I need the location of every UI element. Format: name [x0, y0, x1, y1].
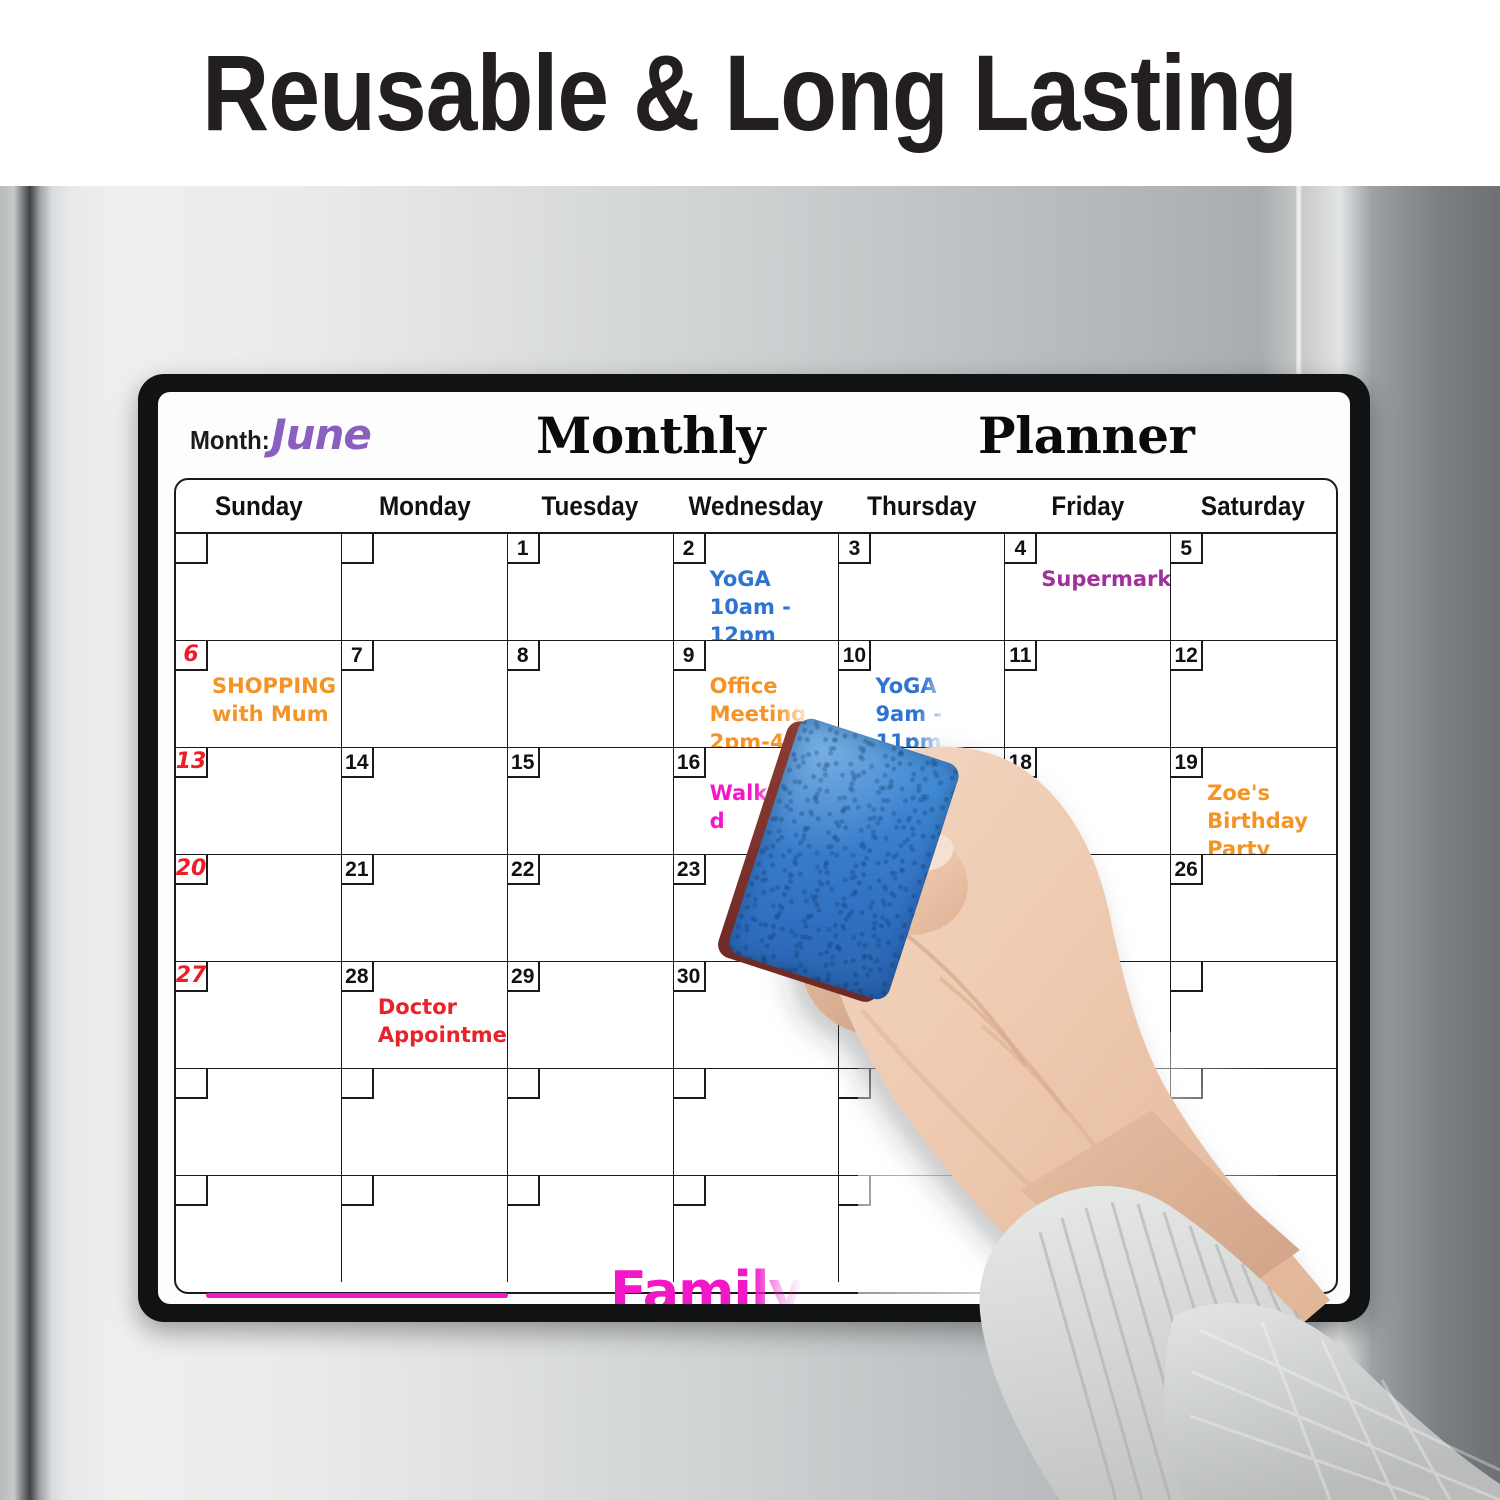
calendar-day-cell[interactable]	[1171, 1176, 1336, 1282]
date-number-box: 15	[508, 748, 540, 778]
day-of-week-header-row: Sunday Monday Tuesday Wednesday Thursday…	[176, 480, 1336, 534]
dow-saturday: Saturday	[1179, 480, 1328, 532]
date-number-box	[674, 1176, 706, 1206]
date-number-box: 29	[508, 962, 540, 992]
day-note-handwritten[interactable]: Zoe's Birthday Party	[1207, 780, 1330, 854]
day-note-handwritten[interactable]: Walk d	[710, 780, 833, 836]
calendar-week-rows: 12YoGA 10am - 12pm34Supermarket56SHOPPIN…	[176, 534, 1336, 1282]
date-number-box	[342, 1069, 374, 1099]
calendar-day-cell[interactable]	[342, 1069, 508, 1175]
date-number-box	[176, 1069, 208, 1099]
banner: Reusable & Long Lasting	[0, 0, 1500, 186]
date-number-box	[839, 1069, 871, 1099]
calendar-day-cell[interactable]: 13	[176, 748, 342, 854]
day-note-handwritten[interactable]: Office Meeting 2pm-4pm	[710, 673, 833, 747]
calendar-week-row: 12YoGA 10am - 12pm34Supermarket5	[176, 534, 1336, 641]
calendar-grid: Sunday Monday Tuesday Wednesday Thursday…	[174, 478, 1338, 1294]
calendar-week-row: 6SHOPPING with Mum789Office Meeting 2pm-…	[176, 641, 1336, 748]
date-number-box: 22	[508, 855, 540, 885]
calendar-day-cell[interactable]: 29	[508, 962, 674, 1068]
date-number-box	[1005, 1069, 1037, 1099]
date-number-box: 30	[674, 962, 706, 992]
calendar-day-cell[interactable]: 6SHOPPING with Mum	[176, 641, 342, 747]
date-number-box: 21	[342, 855, 374, 885]
date-number-box	[839, 962, 871, 992]
calendar-day-cell[interactable]: 24	[839, 855, 1005, 961]
date-number-box: 11	[1005, 641, 1037, 671]
calendar-week-row: 20212223242526	[176, 855, 1336, 962]
calendar-day-cell[interactable]: 27	[176, 962, 342, 1068]
date-number-box: 20	[176, 855, 208, 885]
planner-title-monthly: Monthly	[536, 406, 765, 465]
date-number-box: 7	[342, 641, 374, 671]
calendar-day-cell[interactable]: 20	[176, 855, 342, 961]
screenshot-root: Reusable & Long Lasting Month: June Mont…	[0, 0, 1500, 1500]
calendar-day-cell[interactable]: 23	[674, 855, 840, 961]
calendar-day-cell[interactable]	[342, 534, 508, 640]
date-number-box: 8	[508, 641, 540, 671]
calendar-day-cell[interactable]: 25	[1005, 855, 1171, 961]
banner-title: Reusable & Long Lasting	[203, 39, 1298, 147]
calendar-day-cell[interactable]	[508, 1069, 674, 1175]
month-label: Month:	[190, 425, 270, 456]
magnetic-whiteboard-planner[interactable]: Month: June Monthly Planner Sunday Monda…	[138, 374, 1370, 1322]
calendar-day-cell[interactable]: 14	[342, 748, 508, 854]
calendar-week-row: 13141516Walk d171819Zoe's Birthday Party	[176, 748, 1336, 855]
calendar-day-cell[interactable]: 18	[1005, 748, 1171, 854]
date-number-box: 1	[508, 534, 540, 564]
date-number-box: 13	[176, 748, 208, 778]
date-number-box: 23	[674, 855, 706, 885]
date-number-box	[176, 1176, 208, 1206]
whiteboard-surface: Month: June Monthly Planner Sunday Monda…	[158, 392, 1350, 1304]
calendar-day-cell[interactable]: 30	[674, 962, 840, 1068]
calendar-day-cell[interactable]: 11	[1005, 641, 1171, 747]
calendar-day-cell[interactable]	[1171, 962, 1336, 1068]
calendar-day-cell[interactable]: 16Walk d	[674, 748, 840, 854]
calendar-day-cell[interactable]	[176, 1176, 342, 1282]
day-note-handwritten[interactable]: YoGA 10am - 12pm	[710, 566, 833, 640]
calendar-day-cell[interactable]: 7	[342, 641, 508, 747]
calendar-day-cell[interactable]	[1005, 962, 1171, 1068]
calendar-day-cell[interactable]	[176, 1069, 342, 1175]
date-number-box	[1005, 1176, 1037, 1206]
calendar-day-cell[interactable]: 2YoGA 10am - 12pm	[674, 534, 840, 640]
date-number-box: 4	[1005, 534, 1037, 564]
calendar-day-cell[interactable]: 21	[342, 855, 508, 961]
calendar-day-cell[interactable]: 19Zoe's Birthday Party	[1171, 748, 1336, 854]
calendar-day-cell[interactable]: 1	[508, 534, 674, 640]
date-number-box: 2	[674, 534, 706, 564]
calendar-day-cell[interactable]: 28Doctor Appointment	[342, 962, 508, 1068]
calendar-day-cell[interactable]: 5	[1171, 534, 1336, 640]
date-number-box: 27	[176, 962, 208, 992]
month-value-handwritten[interactable]: June	[271, 410, 371, 459]
date-number-box: 5	[1171, 534, 1203, 564]
calendar-day-cell[interactable]	[839, 962, 1005, 1068]
date-number-box: 10	[839, 641, 871, 671]
dow-tuesday: Tuesday	[516, 480, 665, 532]
calendar-day-cell[interactable]: 17	[839, 748, 1005, 854]
calendar-day-cell[interactable]	[1171, 1069, 1336, 1175]
calendar-day-cell[interactable]	[839, 1069, 1005, 1175]
date-number-box: 14	[342, 748, 374, 778]
day-note-handwritten[interactable]: SHOPPING with Mum	[212, 673, 335, 729]
date-number-box: 26	[1171, 855, 1203, 885]
day-note-handwritten[interactable]: Supermarket	[1041, 566, 1164, 594]
calendar-day-cell[interactable]	[1005, 1176, 1171, 1282]
date-number-box: 17	[839, 748, 871, 778]
date-number-box	[839, 1176, 871, 1206]
dow-thursday: Thursday	[847, 480, 996, 532]
dow-friday: Friday	[1013, 480, 1162, 532]
date-number-box	[176, 534, 208, 564]
date-number-box: 18	[1005, 748, 1037, 778]
day-note-handwritten[interactable]: Doctor Appointment	[378, 994, 501, 1050]
calendar-day-cell[interactable]	[1005, 1069, 1171, 1175]
date-number-box	[508, 1176, 540, 1206]
date-number-box: 3	[839, 534, 871, 564]
date-number-box	[1005, 962, 1037, 992]
date-number-box: 12	[1171, 641, 1203, 671]
date-number-box	[342, 1176, 374, 1206]
calendar-week-row: 2728Doctor Appointment2930	[176, 962, 1336, 1069]
calendar-day-cell[interactable]: 26	[1171, 855, 1336, 961]
date-number-box: 6	[176, 641, 208, 671]
span-note-underline	[206, 1293, 508, 1298]
calendar-day-cell[interactable]: 15	[508, 748, 674, 854]
dow-wednesday: Wednesday	[681, 480, 830, 532]
dow-monday: Monday	[350, 480, 499, 532]
calendar-day-cell[interactable]: 4Supermarket	[1005, 534, 1171, 640]
date-number-box	[1171, 1069, 1203, 1099]
date-number-box: 28	[342, 962, 374, 992]
calendar-day-cell[interactable]	[176, 534, 342, 640]
planner-header: Month: June Monthly Planner	[158, 392, 1350, 478]
day-note-handwritten[interactable]: YoGA 9am - 11pm	[875, 673, 998, 747]
date-number-box	[674, 1069, 706, 1099]
calendar-day-cell[interactable]: 10YoGA 9am - 11pm	[839, 641, 1005, 747]
date-number-box	[1171, 962, 1203, 992]
date-number-box	[1171, 1176, 1203, 1206]
dow-sunday: Sunday	[184, 480, 333, 532]
calendar-day-cell[interactable]	[839, 1176, 1005, 1282]
date-number-box	[342, 534, 374, 564]
calendar-week-row	[176, 1069, 1336, 1176]
planner-title-planner: Planner	[978, 406, 1194, 465]
calendar-day-cell[interactable]: 3	[839, 534, 1005, 640]
date-number-box: 25	[1005, 855, 1037, 885]
date-number-box: 9	[674, 641, 706, 671]
calendar-day-cell[interactable]	[342, 1176, 508, 1282]
calendar-day-cell[interactable]: 12	[1171, 641, 1336, 747]
span-note-text[interactable]: Family	[610, 1260, 803, 1304]
date-number-box	[508, 1069, 540, 1099]
calendar-day-cell[interactable]: 22	[508, 855, 674, 961]
calendar-day-cell[interactable]	[674, 1069, 840, 1175]
date-number-box: 24	[839, 855, 871, 885]
date-number-box: 16	[674, 748, 706, 778]
calendar-day-cell[interactable]: 9Office Meeting 2pm-4pm	[674, 641, 840, 747]
date-number-box: 19	[1171, 748, 1203, 778]
calendar-day-cell[interactable]: 8	[508, 641, 674, 747]
